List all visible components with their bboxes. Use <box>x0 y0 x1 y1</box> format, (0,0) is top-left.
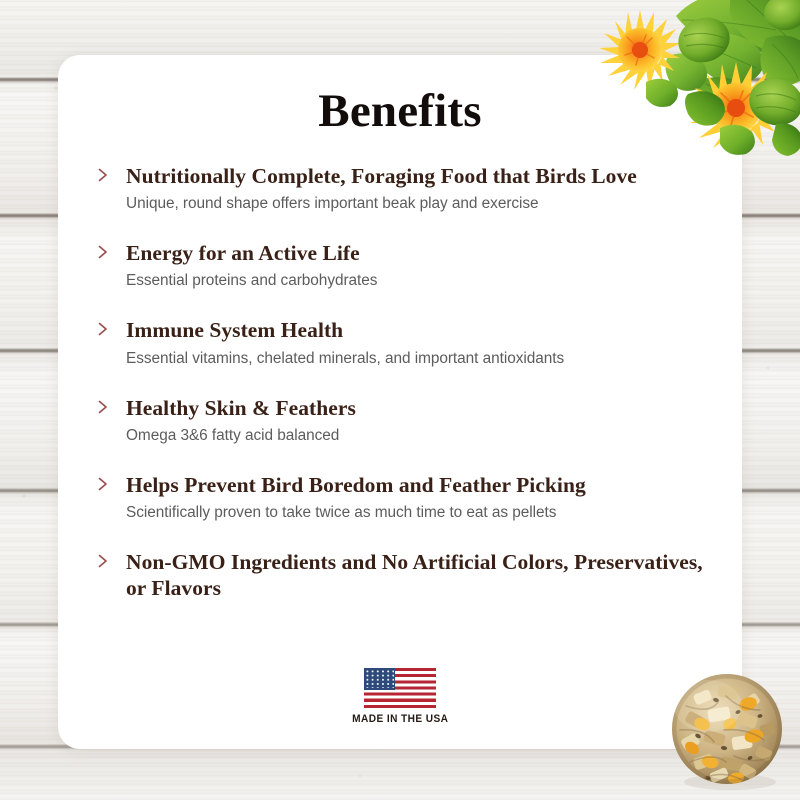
list-item: Healthy Skin & Feathers Omega 3&6 fatty … <box>96 395 706 446</box>
benefit-heading: Non-GMO Ingredients and No Artificial Co… <box>126 549 706 601</box>
made-in-usa-label: MADE IN THE USA <box>352 713 448 725</box>
list-item: Energy for an Active Life Essential prot… <box>96 240 706 291</box>
chevron-right-icon <box>96 243 110 261</box>
usa-flag-icon <box>364 668 436 708</box>
chevron-right-icon <box>96 320 110 338</box>
list-item: Helps Prevent Bird Boredom and Feather P… <box>96 472 706 523</box>
chevron-right-icon <box>96 398 110 416</box>
benefit-heading: Healthy Skin & Feathers <box>126 395 706 421</box>
list-item: Non-GMO Ingredients and No Artificial Co… <box>96 549 706 601</box>
list-item: Nutritionally Complete, Foraging Food th… <box>96 163 706 214</box>
benefit-heading: Helps Prevent Bird Boredom and Feather P… <box>126 472 706 498</box>
flag-canton <box>364 668 395 690</box>
benefit-subtext: Scientifically proven to take twice as m… <box>126 503 706 523</box>
chevron-right-icon <box>96 552 110 570</box>
benefit-heading: Energy for an Active Life <box>126 240 706 266</box>
chevron-right-icon <box>96 166 110 184</box>
benefits-list: Nutritionally Complete, Foraging Food th… <box>58 163 742 602</box>
benefits-card: Benefits Nutritionally Complete, Foragin… <box>58 55 742 749</box>
benefit-subtext: Unique, round shape offers important bea… <box>126 194 706 214</box>
benefit-subtext: Essential proteins and carbohydrates <box>126 271 706 291</box>
page-title: Benefits <box>58 88 742 135</box>
made-in-usa-badge: MADE IN THE USA <box>58 668 742 725</box>
flag-stars <box>366 670 394 689</box>
benefit-subtext: Omega 3&6 fatty acid balanced <box>126 426 706 446</box>
list-item: Immune System Health Essential vitamins,… <box>96 317 706 368</box>
benefit-subtext: Essential vitamins, chelated minerals, a… <box>126 349 706 369</box>
benefit-heading: Nutritionally Complete, Foraging Food th… <box>126 163 706 189</box>
chevron-right-icon <box>96 475 110 493</box>
benefit-heading: Immune System Health <box>126 317 706 343</box>
